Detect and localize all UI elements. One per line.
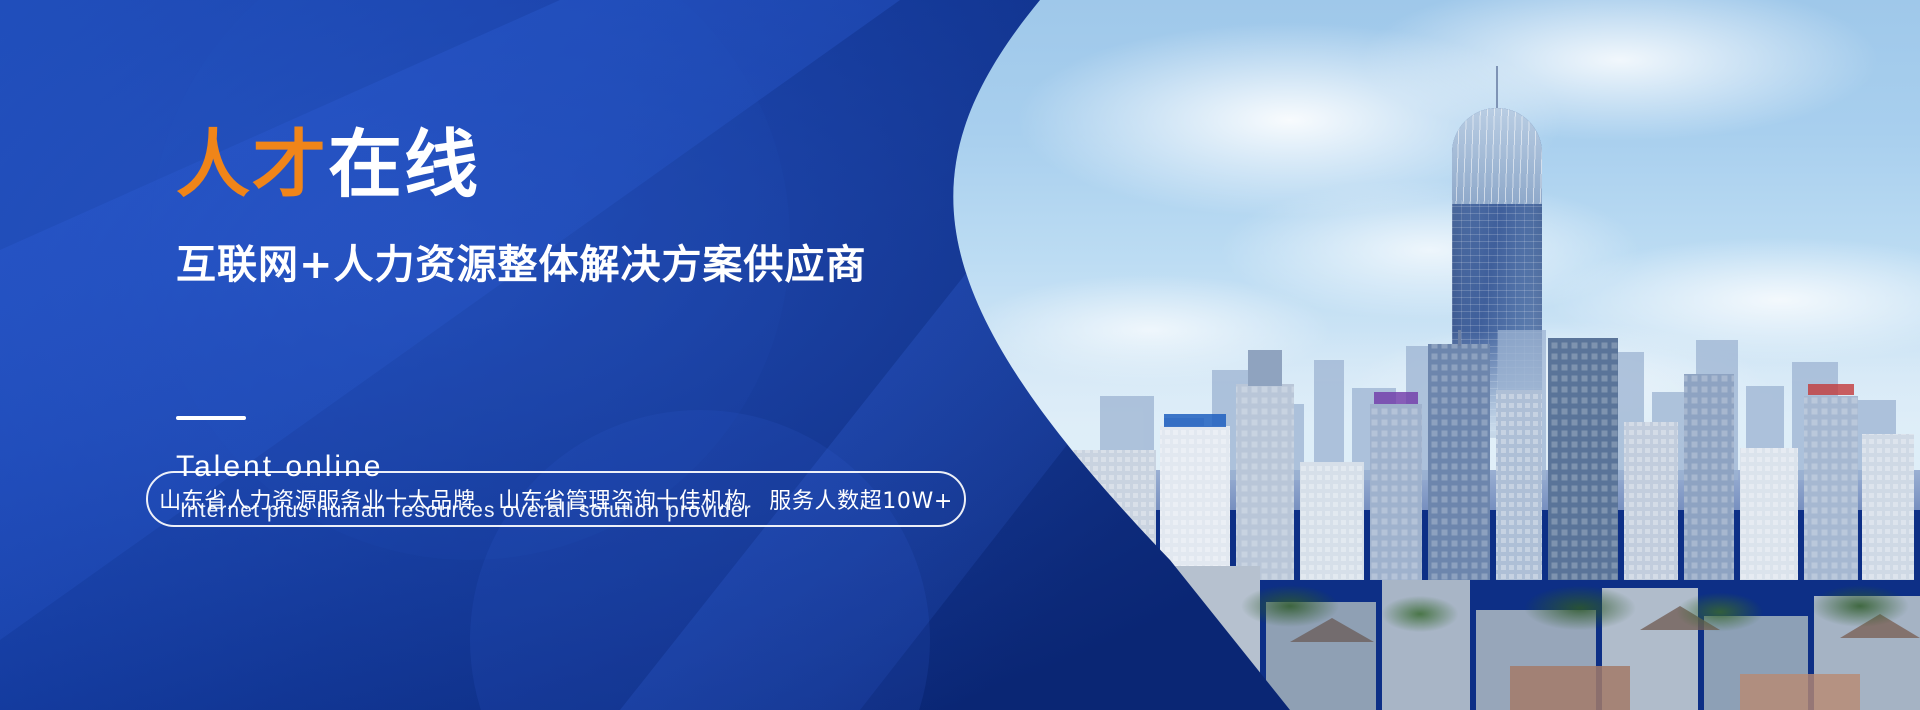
headline-rest: 在线 <box>328 122 480 208</box>
status-badge: 山东省人力资源服务业十大品牌 山东省管理咨询十佳机构 服务人数超10W+ <box>146 471 966 527</box>
headline-accent: 人才 <box>176 122 328 208</box>
subheadline: 互联网+人力资源整体解决方案供应商 <box>176 245 867 285</box>
divider-rule <box>176 416 246 420</box>
badge-label: 山东省人力资源服务业十大品牌 山东省管理咨询十佳机构 服务人数超10W+ <box>159 483 953 515</box>
banner-content: 人才在线 互联网+人力资源整体解决方案供应商 Talent online Int… <box>0 0 1020 710</box>
hero-banner: 人才在线 互联网+人力资源整体解决方案供应商 Talent online Int… <box>0 0 1920 710</box>
page-title: 人才在线 <box>176 128 480 202</box>
